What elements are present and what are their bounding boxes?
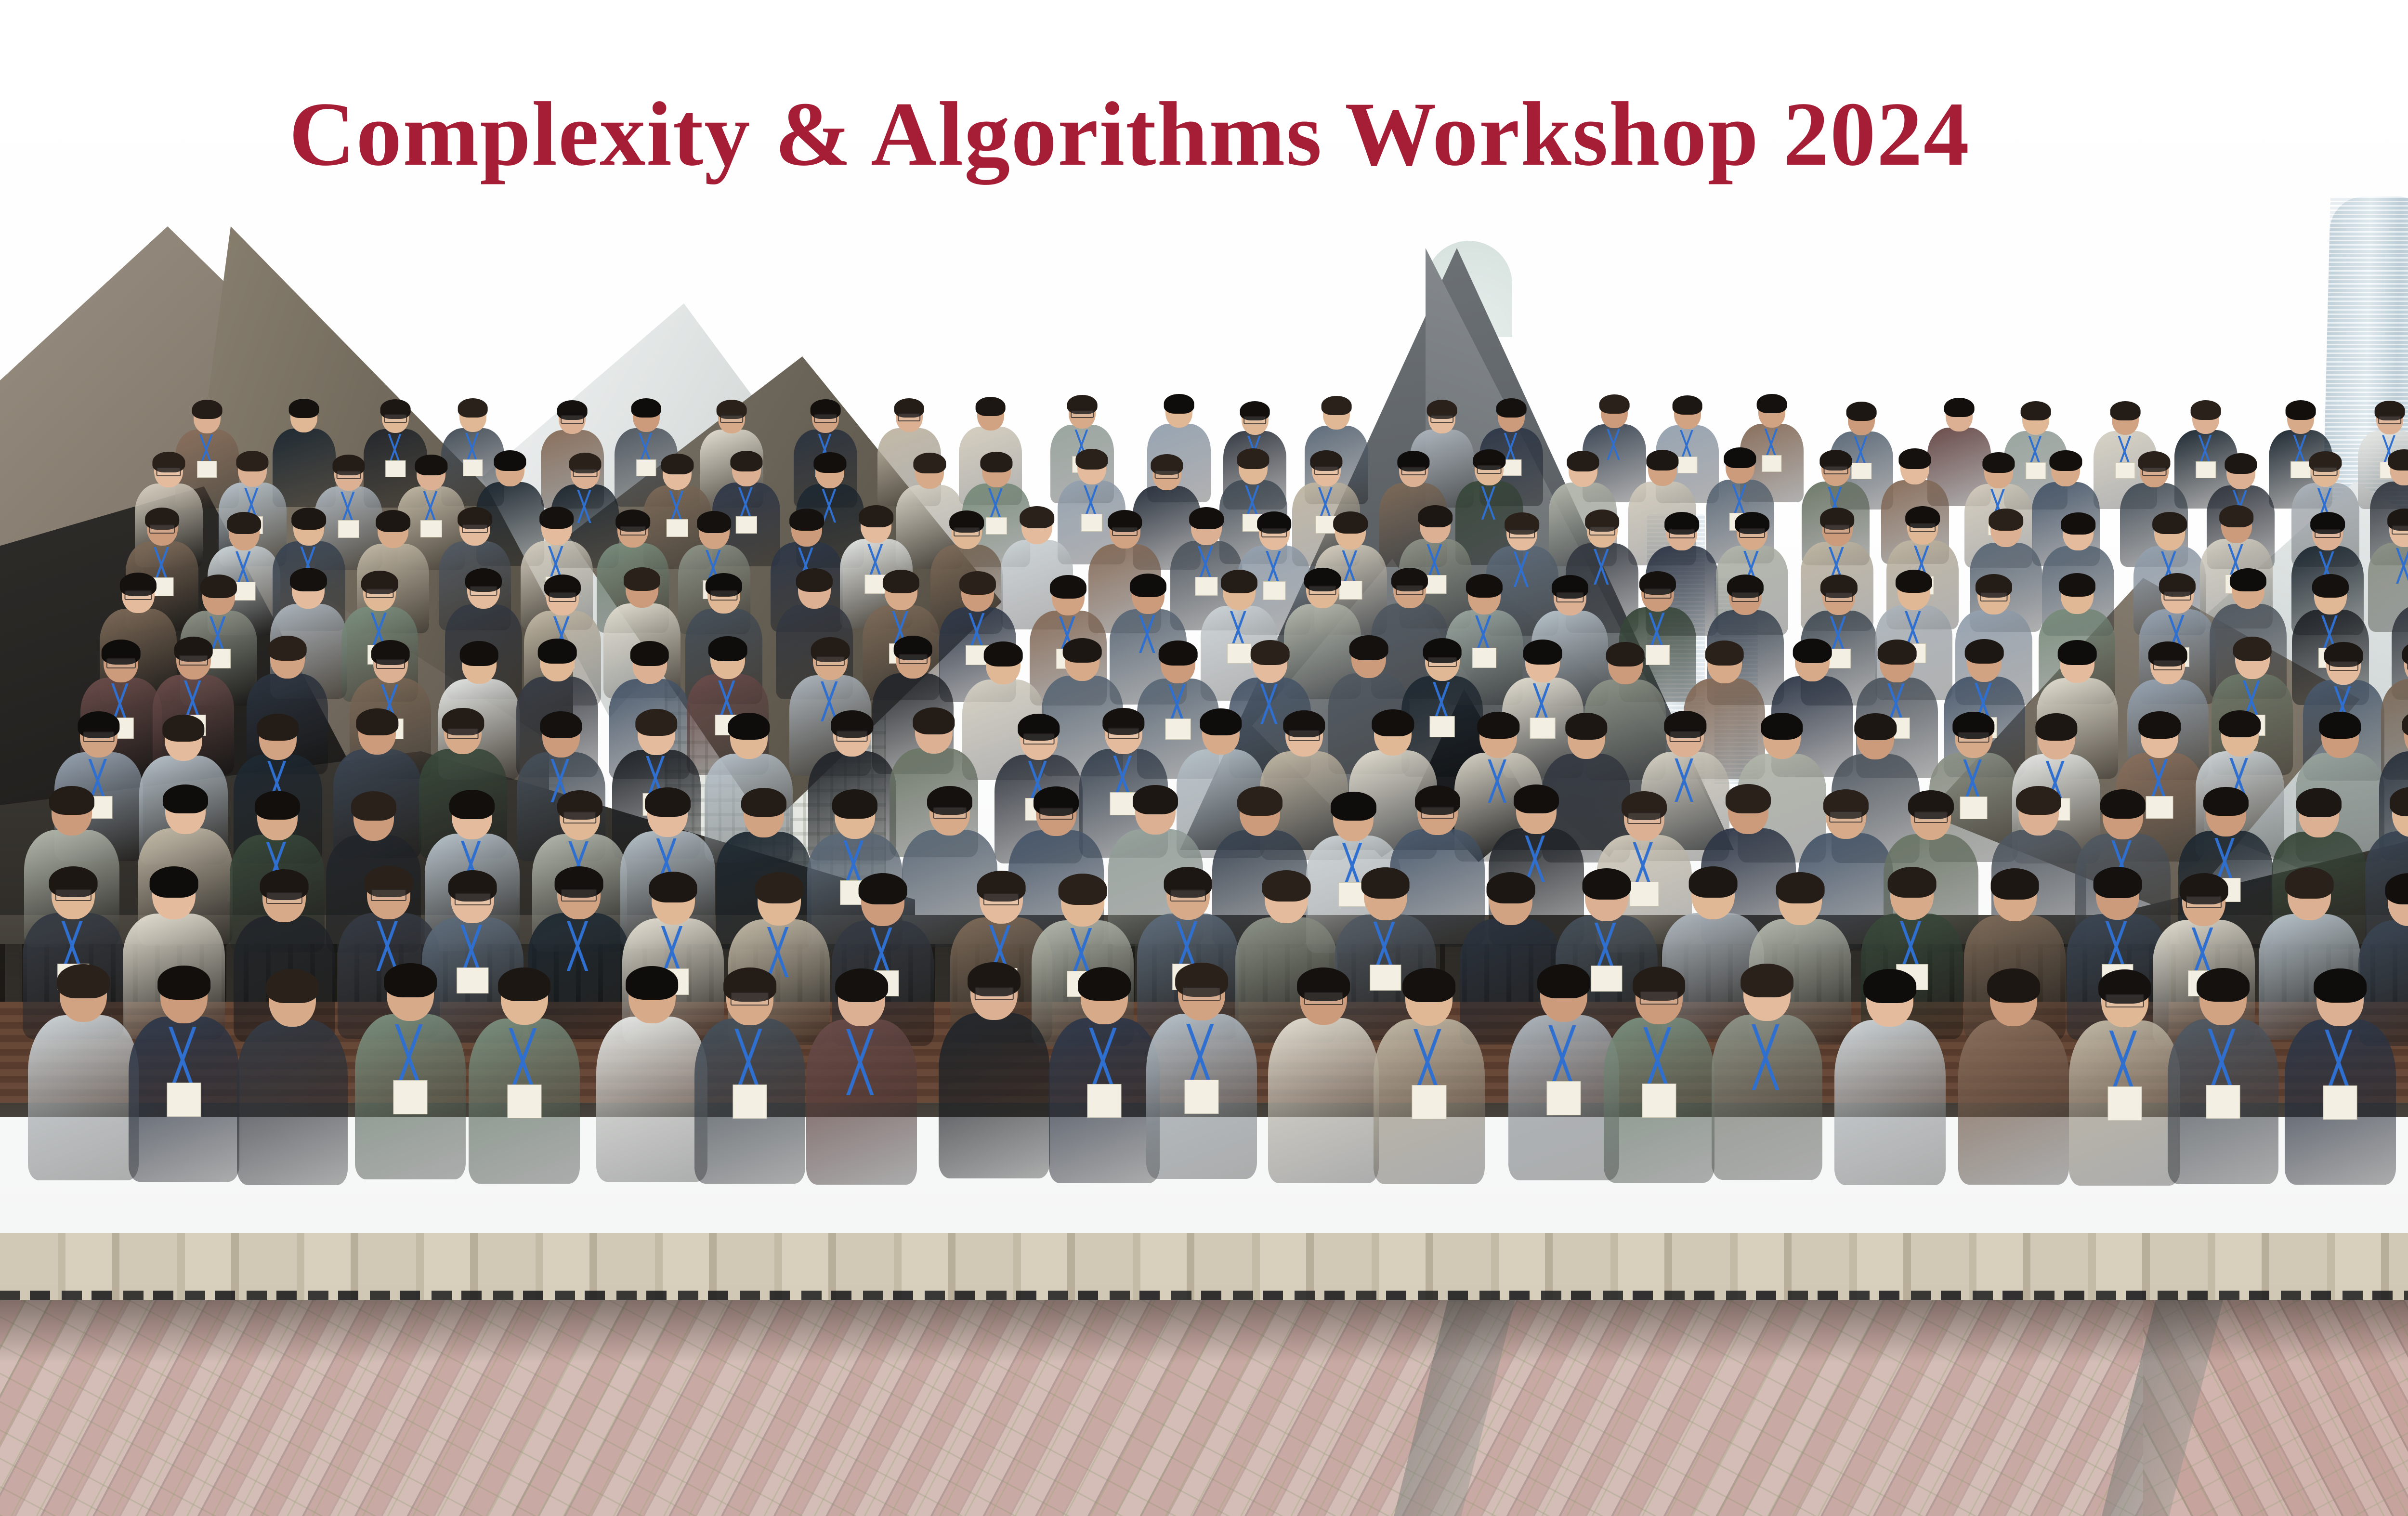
attendee-head	[896, 400, 923, 432]
attendee-head	[2096, 869, 2139, 920]
attendee-hair	[1987, 968, 2040, 1003]
attendee-head	[718, 402, 745, 433]
glasses-icon	[1401, 467, 1426, 475]
attendee-hair	[2152, 512, 2187, 534]
attendee-head	[176, 639, 211, 680]
attendee-head	[154, 454, 183, 488]
glasses-icon	[1039, 808, 1073, 819]
attendee-hair	[2094, 867, 2142, 898]
attendee-head	[1405, 970, 1453, 1026]
attendee-head	[363, 573, 396, 611]
attendee-head	[726, 969, 773, 1025]
attendee-head	[1848, 404, 1875, 435]
attendee-head	[2154, 514, 2185, 550]
attendee-torso	[1049, 1018, 1160, 1183]
attendee-head	[1990, 510, 2021, 547]
glasses-icon	[814, 414, 837, 422]
attendee-head	[791, 510, 822, 547]
attendee-hair	[2219, 505, 2254, 527]
attendee-head	[1105, 710, 1142, 754]
attendee-head	[1351, 637, 1386, 678]
attendee-head	[1498, 400, 1525, 432]
attendee	[237, 971, 348, 1185]
attendee-head	[1729, 576, 1762, 615]
attendee-head	[104, 641, 138, 682]
attendee-hair	[1349, 635, 1388, 660]
attendee	[1374, 970, 1484, 1184]
attendee	[469, 969, 579, 1184]
attendee-head	[2312, 514, 2343, 550]
attendee-torso	[2168, 1019, 2278, 1184]
attendee-hair	[1898, 448, 1931, 469]
attendee-hair	[1565, 713, 1607, 740]
glasses-icon	[366, 588, 393, 598]
attendee-head	[2051, 452, 2080, 486]
attendee-hair	[832, 789, 877, 818]
attendee-head	[1069, 397, 1096, 429]
glasses-icon	[1112, 527, 1138, 536]
attendee-hair	[2016, 786, 2061, 815]
name-badge	[1642, 1084, 1676, 1118]
attendee-hair	[255, 791, 300, 820]
glasses-icon	[1477, 465, 1502, 474]
attendee-head	[1857, 715, 1894, 759]
attendee-head	[571, 455, 600, 489]
attendee-hair	[2139, 711, 2181, 738]
attendee-head	[1417, 787, 1458, 835]
attendee-hair	[1262, 870, 1311, 902]
attendee-head	[1223, 572, 1256, 610]
attendee-head	[1077, 451, 1106, 485]
attendee-head	[1758, 396, 1785, 428]
attendee-hair	[2296, 788, 2342, 817]
attendee-head	[194, 402, 221, 433]
attendee-head	[541, 509, 572, 545]
attendee-hair	[1989, 509, 2023, 531]
ground-shadow	[0, 1300, 2408, 1363]
attendee-head	[52, 788, 92, 836]
attendee-head	[1636, 968, 1683, 1024]
attendee-hair	[415, 455, 447, 475]
attendee-head	[290, 401, 317, 432]
attendee-hair	[741, 788, 786, 817]
name-badge	[1087, 1084, 1122, 1118]
attendee-hair	[1403, 968, 1456, 1002]
attendee-head	[1568, 715, 1605, 759]
attendee-head	[2311, 453, 2340, 487]
attendee-head	[617, 511, 648, 548]
glasses-icon	[1071, 410, 1094, 418]
attendee-head	[1036, 788, 1076, 836]
attendee-hair	[1075, 449, 1108, 470]
attendee-hair	[2203, 787, 2248, 816]
attendee-head	[1021, 508, 1052, 545]
attendee-hair	[290, 568, 327, 591]
attendee-head	[1569, 453, 1597, 487]
attendee-head	[2150, 643, 2185, 684]
glasses-icon	[2153, 660, 2182, 670]
attendee-hair	[257, 714, 299, 741]
attendee-head	[459, 400, 486, 432]
attendee-head	[1161, 642, 1195, 683]
attendee-hair	[1705, 640, 1744, 666]
attendee-head	[2206, 789, 2246, 836]
attendee-head	[1955, 714, 1992, 758]
attendee-head	[1306, 570, 1339, 608]
glasses-icon	[983, 893, 1019, 906]
attendee-hair	[1896, 570, 1932, 593]
attendee-head	[1585, 870, 1628, 921]
attendee-head	[744, 790, 784, 837]
attendee-head	[1312, 452, 1341, 486]
attendee-head	[444, 710, 482, 754]
attendee-hair	[1724, 447, 1756, 468]
attendee-head	[2063, 514, 2094, 551]
attendee-head	[1822, 510, 1853, 546]
glasses-icon	[1314, 466, 1338, 475]
attendee-head	[835, 791, 875, 839]
glasses-icon	[2329, 661, 2358, 671]
attendee-hair	[730, 451, 762, 471]
attendee-head	[2316, 970, 2364, 1026]
attendee-hair	[1478, 712, 1519, 739]
attendee-hair	[1237, 786, 1283, 815]
attendee-hair	[2314, 968, 2367, 1003]
attendee-head	[122, 575, 155, 613]
glasses-icon	[1829, 811, 1863, 823]
attendee-hair	[789, 509, 824, 531]
attendee-torso	[2069, 1020, 2180, 1186]
attendee-torso	[596, 1017, 707, 1182]
attendee-head	[60, 966, 107, 1022]
glasses-icon	[620, 526, 646, 535]
attendee-hair	[1944, 398, 1975, 417]
group-photo-banner: Complexity & Algorithms Workshop 2024 （2…	[0, 0, 2408, 1516]
attendee-head	[269, 971, 316, 1027]
attendee	[1834, 971, 1945, 1185]
attendee-hair	[1322, 396, 1352, 415]
attendee-head	[1240, 788, 1280, 836]
attendee-torso	[469, 1019, 579, 1184]
page-title: Complexity & Algorithms Workshop 2024	[289, 82, 1970, 187]
name-badge	[2323, 1085, 2357, 1120]
attendee-hair	[459, 641, 498, 666]
attendee-hair	[2110, 401, 2141, 420]
attendee-hair	[1741, 964, 1793, 998]
attendee-head	[1900, 450, 1929, 484]
attendee-hair	[1523, 640, 1562, 665]
attendee-hair	[2197, 968, 2250, 1002]
attendee-head	[2199, 970, 2247, 1026]
attendee-hair	[649, 872, 697, 903]
attendee-head	[152, 868, 196, 919]
attendee-head	[951, 512, 982, 549]
glasses-icon	[899, 654, 928, 664]
attendee-hair	[984, 641, 1023, 667]
attendee-head	[147, 510, 178, 546]
attendee-hair	[1582, 868, 1631, 900]
attendee-head	[915, 709, 953, 754]
attendee-head	[1425, 640, 1460, 681]
attendee-hair	[236, 451, 268, 471]
glasses-icon	[1261, 528, 1287, 537]
glasses-icon	[549, 592, 576, 602]
attendee-head	[2161, 575, 2194, 614]
attendee-head	[262, 871, 306, 922]
attendee-head	[1967, 641, 2002, 682]
attendee-head	[1898, 572, 1930, 610]
attendee-torso	[1146, 1014, 1257, 1179]
attendee-head	[710, 638, 745, 679]
attendee-head	[1707, 642, 1742, 683]
attendee-head	[2221, 712, 2259, 757]
attendee-head	[628, 968, 676, 1024]
attendee-head	[1132, 575, 1165, 614]
attendee-torso	[1508, 1015, 1619, 1180]
attendee-head	[1728, 786, 1768, 834]
attendee-head	[373, 642, 408, 683]
attendee-hair	[2058, 573, 2095, 597]
attendee-head	[1110, 512, 1140, 549]
attendee-hair	[157, 966, 210, 1000]
attendee-hair	[2100, 789, 2146, 818]
attendee-head	[861, 507, 891, 544]
glasses-icon	[898, 413, 921, 421]
glasses-icon	[1023, 733, 1054, 745]
attendee-head	[2404, 643, 2408, 684]
attendee-head	[1648, 452, 1677, 486]
glasses-icon	[149, 524, 175, 534]
attendee-hair	[859, 873, 907, 904]
glasses-icon	[561, 889, 597, 902]
glasses-icon	[975, 987, 1013, 1000]
attendee-head	[730, 715, 768, 759]
glasses-icon	[1509, 529, 1535, 538]
attendee-head	[813, 639, 848, 680]
attendee-head	[165, 717, 202, 761]
attendee-hair	[1864, 969, 1917, 1003]
attendee-hair	[1761, 713, 1803, 740]
glasses-icon	[2378, 416, 2401, 424]
attendee-head	[1984, 454, 2013, 488]
attendee-head	[1795, 640, 1830, 681]
glasses-icon	[376, 659, 405, 669]
attendee-hair	[1990, 868, 2039, 900]
lanyard	[827, 1029, 896, 1095]
attendee-head	[202, 576, 235, 615]
glasses-icon	[470, 586, 497, 596]
name-badge	[1546, 1081, 1581, 1115]
attendee-hair	[2191, 400, 2221, 419]
attendee-hair	[1466, 574, 1503, 598]
attendee-torso	[1268, 1018, 1379, 1183]
attendee-hair	[661, 454, 694, 474]
attendee-head	[1726, 449, 1754, 484]
attendee-head	[1540, 966, 1587, 1022]
glasses-icon	[1589, 526, 1615, 536]
attendee-head	[2141, 713, 2178, 758]
attendee-head	[2390, 451, 2408, 485]
attendee-head	[1335, 513, 1366, 550]
attendee-hair	[1487, 872, 1535, 903]
attendee-head	[257, 793, 298, 840]
attendee-hair	[268, 636, 307, 661]
attendee	[1958, 970, 2069, 1185]
attendee-head	[632, 643, 667, 684]
glasses-icon	[1644, 588, 1671, 598]
attendee-head	[1666, 713, 1704, 757]
attendee-hair	[1982, 452, 2015, 473]
attendee-head	[451, 872, 494, 923]
glasses-icon	[954, 527, 980, 536]
attendee-torso	[237, 1020, 348, 1185]
attendee-head	[2101, 971, 2148, 1027]
attendee-head	[961, 573, 994, 612]
attendee-hair	[1372, 709, 1414, 736]
attendee-hair	[2230, 568, 2266, 592]
attendee	[806, 970, 917, 1185]
attendee-head	[1166, 869, 1210, 920]
attendee-hair	[1251, 640, 1290, 665]
glasses-icon	[1825, 592, 1853, 602]
attendee-head	[798, 570, 831, 609]
attendee-head	[1890, 869, 1934, 920]
attendee-hair	[708, 636, 747, 661]
attendee-head	[861, 875, 904, 926]
attendee-head	[52, 868, 95, 919]
attendee-head	[1554, 577, 1586, 615]
attendee-head	[2192, 402, 2219, 434]
attendee-head	[1666, 514, 1697, 550]
attendee-hair	[1020, 506, 1054, 528]
attendee-hair	[2061, 512, 2095, 535]
attendee-head	[2221, 507, 2252, 544]
attendee-head	[980, 873, 1023, 924]
attendee-head	[896, 638, 930, 679]
attendee-head	[557, 868, 601, 919]
glasses-icon	[933, 807, 967, 819]
glasses-icon	[1182, 987, 1221, 1001]
attendee-head	[2392, 789, 2408, 836]
attendee-hair	[1059, 874, 1107, 905]
attendee-head	[1259, 513, 1290, 550]
glasses-icon	[1428, 657, 1457, 667]
glasses-icon	[1669, 529, 1695, 538]
attendee	[2168, 970, 2278, 1184]
attendee-hair	[975, 397, 1006, 416]
attendee-hair	[291, 508, 326, 530]
attendee-head	[633, 400, 660, 432]
attendee-hair	[630, 641, 669, 666]
attendee-head	[652, 874, 695, 925]
glasses-icon	[1309, 586, 1336, 595]
attendee-hair	[796, 568, 833, 592]
attendee-head	[229, 514, 260, 550]
attendee-head	[1399, 453, 1428, 487]
attendee-head	[2388, 875, 2408, 926]
attendee-hair	[2233, 637, 2272, 662]
attendee-head	[459, 509, 490, 546]
attendee-head	[1020, 716, 1058, 760]
name-badge	[393, 1080, 428, 1114]
glasses-icon	[1639, 991, 1678, 1005]
attendee-head	[1300, 969, 1347, 1025]
glasses-icon	[2105, 994, 2144, 1007]
attendee-hair	[1757, 394, 1787, 413]
attendee	[129, 967, 239, 1182]
glasses-icon	[1556, 592, 1584, 602]
glasses-icon	[2163, 591, 2191, 601]
attendee-head	[638, 711, 675, 755]
name-badge	[2107, 1086, 2142, 1121]
attendee-hair	[835, 968, 888, 1003]
attendee-head	[626, 569, 658, 608]
attendee-hair	[49, 786, 94, 815]
glasses-icon	[2186, 896, 2222, 908]
attendee-head	[1624, 793, 1664, 841]
attendee-hair	[2021, 401, 2051, 420]
attendee-head	[1178, 965, 1225, 1020]
attendee-head	[2140, 453, 2169, 487]
attendee-head	[467, 570, 500, 609]
attendee-hair	[449, 790, 495, 819]
attendee-hair	[2050, 450, 2082, 471]
attendee-hair	[1793, 639, 1832, 664]
glasses-icon	[2142, 467, 2167, 476]
attendee-head	[2288, 869, 2331, 920]
attendee-hair	[1221, 570, 1257, 593]
attendee-head	[1428, 402, 1455, 433]
attendee-head	[2404, 712, 2408, 757]
attendee-head	[160, 967, 208, 1023]
lanyard	[547, 921, 610, 971]
attendee-hair	[162, 715, 204, 742]
attendee-hair	[539, 507, 574, 529]
attendee-head	[2235, 639, 2270, 680]
attendee-hair	[645, 787, 690, 816]
glasses-icon	[106, 658, 135, 668]
attendee-torso	[1834, 1020, 1945, 1185]
glasses-icon	[157, 467, 181, 476]
attendee-hair	[538, 639, 577, 664]
attendee-hair	[2286, 400, 2316, 419]
attendee-head	[1242, 403, 1269, 435]
attendee-hair	[1361, 867, 1410, 899]
attendee	[355, 965, 466, 1179]
attendee-head	[970, 964, 1018, 1020]
attendee-hair	[149, 866, 198, 898]
glasses-icon	[731, 992, 769, 1006]
attendee-head	[1323, 398, 1350, 430]
lanyard	[1733, 1024, 1802, 1090]
attendee-hair	[1567, 451, 1599, 471]
attendee-head	[1779, 874, 1822, 925]
attendee-head	[452, 792, 492, 839]
attendee-head	[1165, 396, 1192, 428]
glasses-icon	[1154, 470, 1179, 479]
attendee-hair	[1606, 642, 1645, 667]
attendee-torso	[1374, 1019, 1484, 1184]
attendee-head	[80, 713, 118, 758]
glasses-icon	[1958, 732, 1989, 743]
attendee-head	[540, 640, 575, 681]
glasses-icon	[371, 889, 406, 902]
attendee-hair	[1050, 575, 1086, 599]
attendee-hair	[914, 453, 946, 473]
attendee	[1049, 969, 1160, 1183]
attendee-head	[663, 456, 692, 490]
attendee-hair	[2225, 453, 2257, 474]
